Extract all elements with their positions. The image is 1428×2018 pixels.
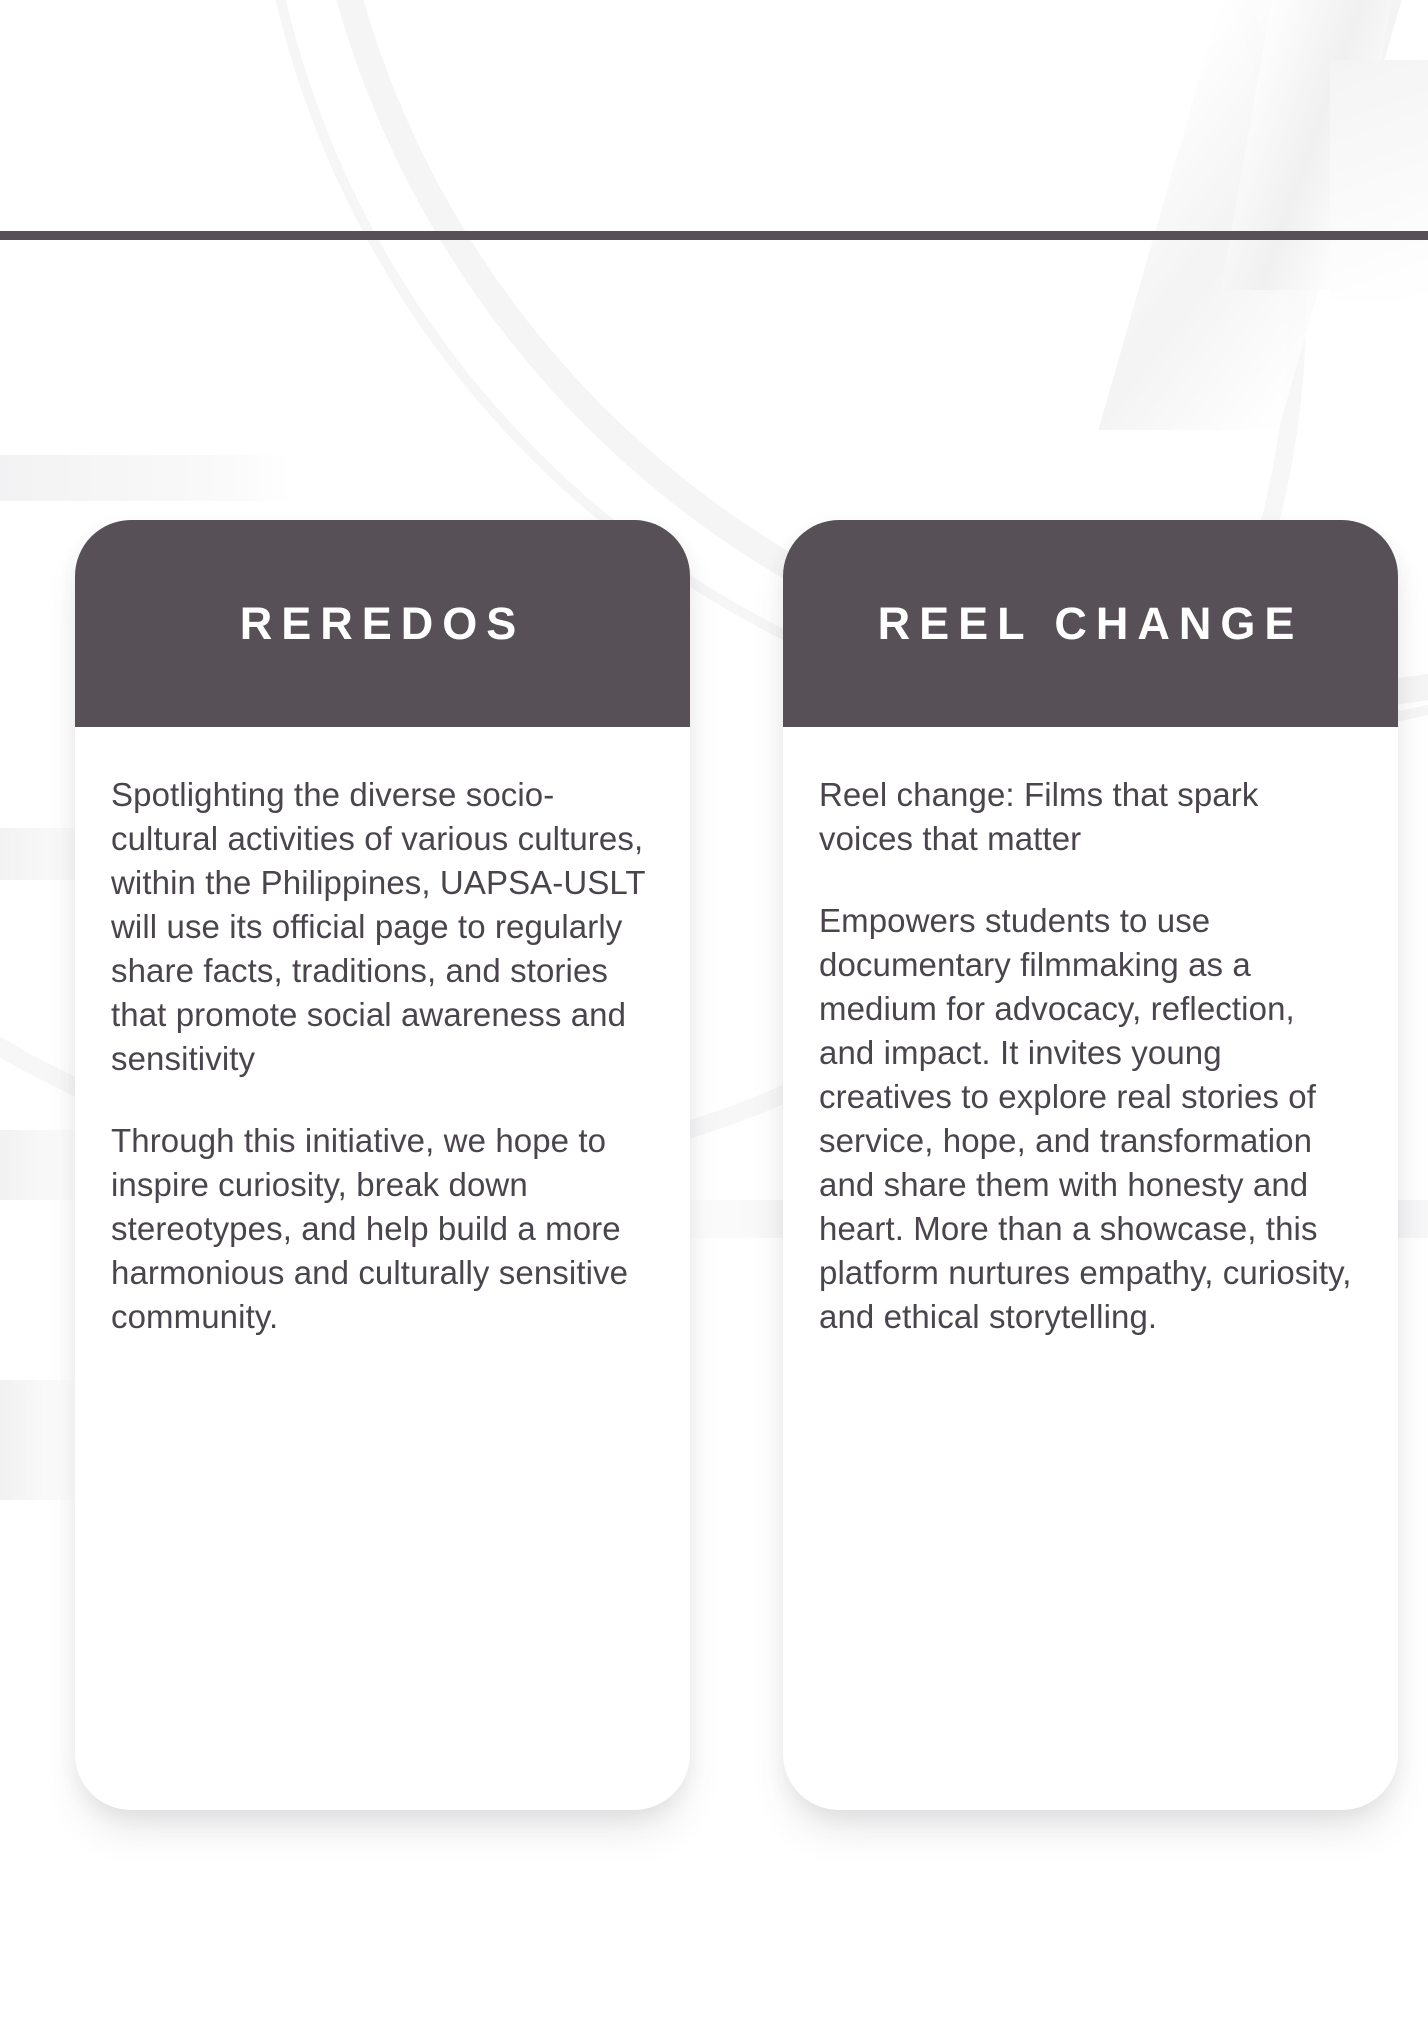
card-header-reel-change: REEL CHANGE (783, 520, 1398, 727)
card-paragraph: Empowers students to use documentary fil… (819, 899, 1358, 1339)
card-body-reredos: Spotlighting the diverse socio-cultural … (75, 727, 690, 1379)
card-row: REREDOS Spotlighting the diverse socio-c… (0, 0, 1428, 2018)
info-card-reredos[interactable]: REREDOS Spotlighting the diverse socio-c… (75, 520, 690, 1810)
card-paragraph: Spotlighting the diverse socio-cultural … (111, 773, 650, 1081)
card-paragraph: Through this initiative, we hope to insp… (111, 1119, 650, 1339)
info-card-reel-change[interactable]: REEL CHANGE Reel change: Films that spar… (783, 520, 1398, 1810)
card-title-reel-change: REEL CHANGE (878, 601, 1304, 646)
card-title-reredos: REREDOS (240, 601, 526, 646)
card-paragraph: Reel change: Films that spark voices tha… (819, 773, 1358, 861)
card-body-reel-change: Reel change: Films that spark voices tha… (783, 727, 1398, 1379)
card-header-reredos: REREDOS (75, 520, 690, 727)
header-divider-rule (0, 231, 1428, 240)
